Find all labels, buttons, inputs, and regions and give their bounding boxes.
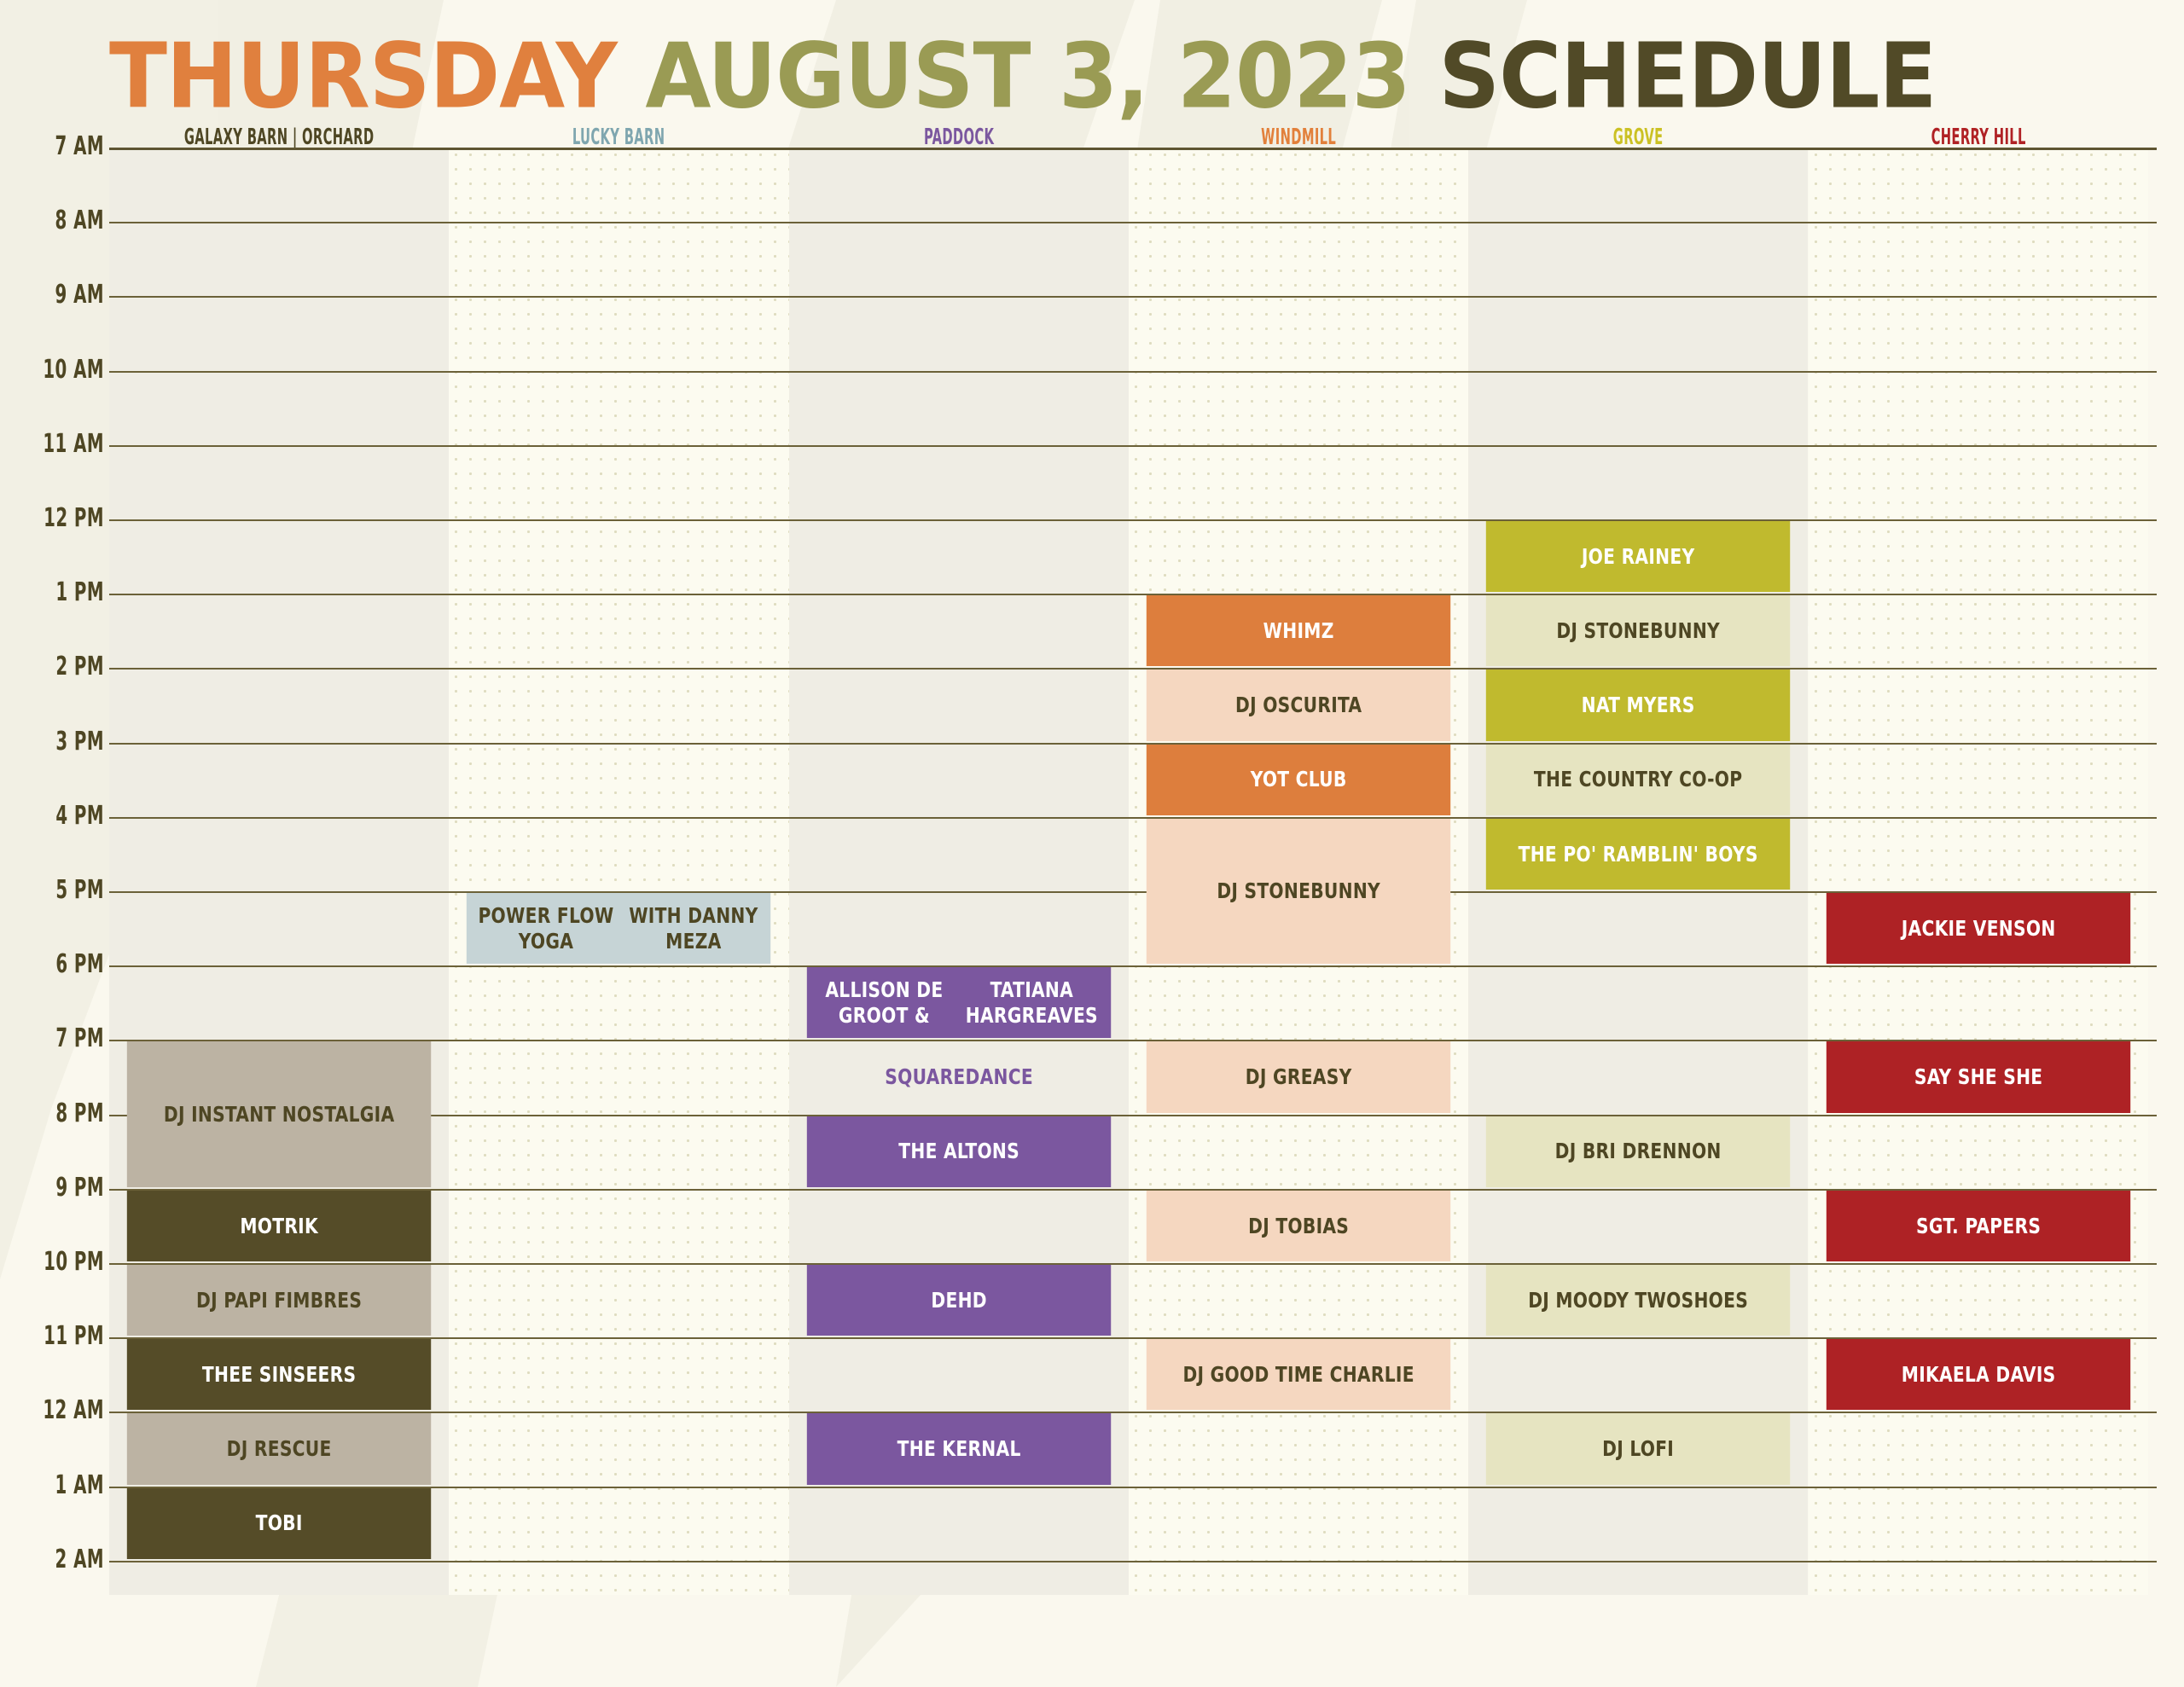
time-label: 3 PM [13, 725, 104, 755]
event-block[interactable]: DJ LOFI [1486, 1413, 1791, 1484]
time-label: 12 AM [13, 1394, 104, 1424]
time-label: 7 AM [13, 130, 104, 160]
schedule-page: THURSDAY AUGUST 3, 2023 SCHEDULE GALAXY … [0, 0, 2184, 1687]
event-block[interactable]: DJ INSTANT NOSTALGIA [127, 1041, 432, 1186]
event-block[interactable]: THE KERNAL [806, 1413, 1111, 1484]
grid-row-line [109, 371, 2157, 373]
event-label-line: DJ OSCURITA [1235, 693, 1362, 718]
event-label-line: DEHD [931, 1288, 986, 1313]
event-block[interactable]: THE PO' RAMBLIN' BOYS [1486, 819, 1791, 890]
grid-row-line [109, 222, 2157, 223]
stage-column-band [449, 148, 788, 1595]
event-label-line: DJ MOODY TWOSHOES [1528, 1288, 1748, 1313]
event-label-line: DJ STONEBUNNY [1557, 618, 1721, 644]
event-label-line: THE ALTONS [898, 1139, 1019, 1164]
time-label: 8 AM [13, 205, 104, 235]
event-block[interactable]: DJ GREASY [1147, 1041, 1451, 1112]
time-label: 4 PM [13, 800, 104, 830]
event-block[interactable]: MIKAELA DAVIS [1826, 1339, 2130, 1410]
event-label-line: DJ RESCUE [227, 1436, 332, 1462]
event-block[interactable]: JACKIE VENSON [1826, 893, 2130, 964]
event-block[interactable]: THE ALTONS [806, 1116, 1111, 1187]
event-block[interactable]: DJ STONEBUNNY [1486, 595, 1791, 666]
stage-header-paddock[interactable]: PADDOCK [819, 123, 1098, 149]
event-label-line: THE COUNTRY CO-OP [1534, 767, 1742, 792]
event-label-line: DJ BRI DRENNON [1555, 1139, 1722, 1164]
time-label: 2 AM [13, 1544, 104, 1574]
event-block[interactable]: DJ MOODY TWOSHOES [1486, 1265, 1791, 1336]
event-block[interactable]: THE COUNTRY CO-OP [1486, 745, 1791, 815]
event-label-line: THE KERNAL [897, 1436, 1020, 1462]
event-block[interactable]: SQUAREDANCE [806, 1041, 1111, 1112]
event-block[interactable]: WHIMZ [1147, 595, 1451, 666]
grid-row-line [109, 817, 2157, 819]
event-label-line: NAT MYERS [1582, 693, 1695, 718]
stage-column-band [789, 148, 1129, 1595]
event-label-line: DJ GOOD TIME CHARLIE [1182, 1362, 1414, 1388]
grid-row-line [109, 445, 2157, 447]
event-label-line: DJ LOFI [1602, 1436, 1674, 1462]
event-block[interactable]: DJ STONEBUNNY [1147, 819, 1451, 964]
event-block[interactable]: JOE RAINEY [1486, 521, 1791, 592]
event-block[interactable]: DEHD [806, 1265, 1111, 1336]
grid-row-line [109, 148, 2157, 150]
event-block[interactable]: DJ RESCUE [127, 1413, 432, 1484]
event-block[interactable]: DJ OSCURITA [1147, 670, 1451, 740]
event-block[interactable]: SGT. PAPERS [1826, 1191, 2130, 1261]
event-label-line: ALLISON DE GROOT & [811, 977, 956, 1028]
event-block[interactable]: TOBI [127, 1488, 432, 1559]
event-block[interactable]: DJ PAPI FIMBRES [127, 1265, 432, 1336]
stage-header-galaxy-barn-orchard[interactable]: GALAXY BARN | ORCHARD [140, 123, 419, 149]
event-label-line: DJ TOBIAS [1248, 1214, 1349, 1239]
event-block[interactable]: SAY SHE SHE [1826, 1041, 2130, 1112]
time-label: 9 PM [13, 1172, 104, 1202]
event-block[interactable]: YOT CLUB [1147, 745, 1451, 815]
time-label: 1 AM [13, 1469, 104, 1499]
grid-row-line [109, 1561, 2157, 1562]
time-label: 1 PM [13, 577, 104, 606]
event-label-line: JACKIE VENSON [1901, 916, 2055, 942]
event-block[interactable]: DJ BRI DRENNON [1486, 1116, 1791, 1187]
event-label-line: SGT. PAPERS [1916, 1214, 2041, 1239]
time-label: 9 AM [13, 279, 104, 309]
event-block[interactable]: DJ TOBIAS [1147, 1191, 1451, 1261]
event-block[interactable]: POWER FLOW YOGAWITH DANNY MEZA [467, 893, 771, 964]
event-label-line: JOE RAINEY [1582, 544, 1695, 570]
time-label: 8 PM [13, 1097, 104, 1127]
time-label: 10 PM [13, 1246, 104, 1276]
event-label-line: TATIANA HARGREAVES [956, 977, 1106, 1028]
event-block[interactable]: DJ GOOD TIME CHARLIE [1147, 1339, 1451, 1410]
time-label: 11 AM [13, 428, 104, 458]
grid-row-line [109, 519, 2157, 521]
event-label-line: MOTRIK [240, 1214, 318, 1239]
schedule-grid: GALAXY BARN | ORCHARDLUCKY BARNPADDOCKWI… [0, 0, 2184, 1687]
event-label-line: THE PO' RAMBLIN' BOYS [1519, 842, 1758, 867]
time-label: 11 PM [13, 1320, 104, 1350]
event-block[interactable]: NAT MYERS [1486, 670, 1791, 740]
event-label-line: YOT CLUB [1251, 767, 1347, 792]
event-label-line: MIKAELA DAVIS [1901, 1362, 2055, 1388]
stage-header-cherry-hill[interactable]: CHERRY HILL [1838, 123, 2117, 149]
time-label: 2 PM [13, 651, 104, 681]
event-label-line: WITH DANNY MEZA [621, 903, 766, 954]
event-block[interactable]: THEE SINSEERS [127, 1339, 432, 1410]
event-label-line: DJ INSTANT NOSTALGIA [164, 1102, 395, 1128]
grid-row-line [109, 594, 2157, 595]
time-label: 6 PM [13, 948, 104, 978]
stage-header-lucky-barn[interactable]: LUCKY BARN [479, 123, 758, 149]
stage-header-windmill[interactable]: WINDMILL [1159, 123, 1438, 149]
time-label: 12 PM [13, 502, 104, 532]
grid-row-line [109, 965, 2157, 967]
grid-row-line [109, 743, 2157, 745]
event-label-line: TOBI [256, 1510, 303, 1536]
event-block[interactable]: MOTRIK [127, 1191, 432, 1261]
stage-header-grove[interactable]: GROVE [1499, 123, 1778, 149]
grid-row-line [109, 668, 2157, 670]
event-label-line: DJ PAPI FIMBRES [196, 1288, 362, 1313]
event-label-line: THEE SINSEERS [202, 1362, 356, 1388]
time-label: 5 PM [13, 874, 104, 904]
event-label-line: SQUAREDANCE [885, 1064, 1033, 1090]
event-label-line: SAY SHE SHE [1914, 1064, 2042, 1090]
grid-row-line [109, 296, 2157, 298]
time-label: 7 PM [13, 1023, 104, 1052]
event-label-line: POWER FLOW YOGA [472, 903, 621, 954]
time-label: 10 AM [13, 353, 104, 383]
event-label-line: DJ GREASY [1246, 1064, 1352, 1090]
event-block[interactable]: ALLISON DE GROOT &TATIANA HARGREAVES [806, 967, 1111, 1038]
event-label-line: DJ STONEBUNNY [1217, 878, 1380, 904]
event-label-line: WHIMZ [1263, 618, 1334, 644]
